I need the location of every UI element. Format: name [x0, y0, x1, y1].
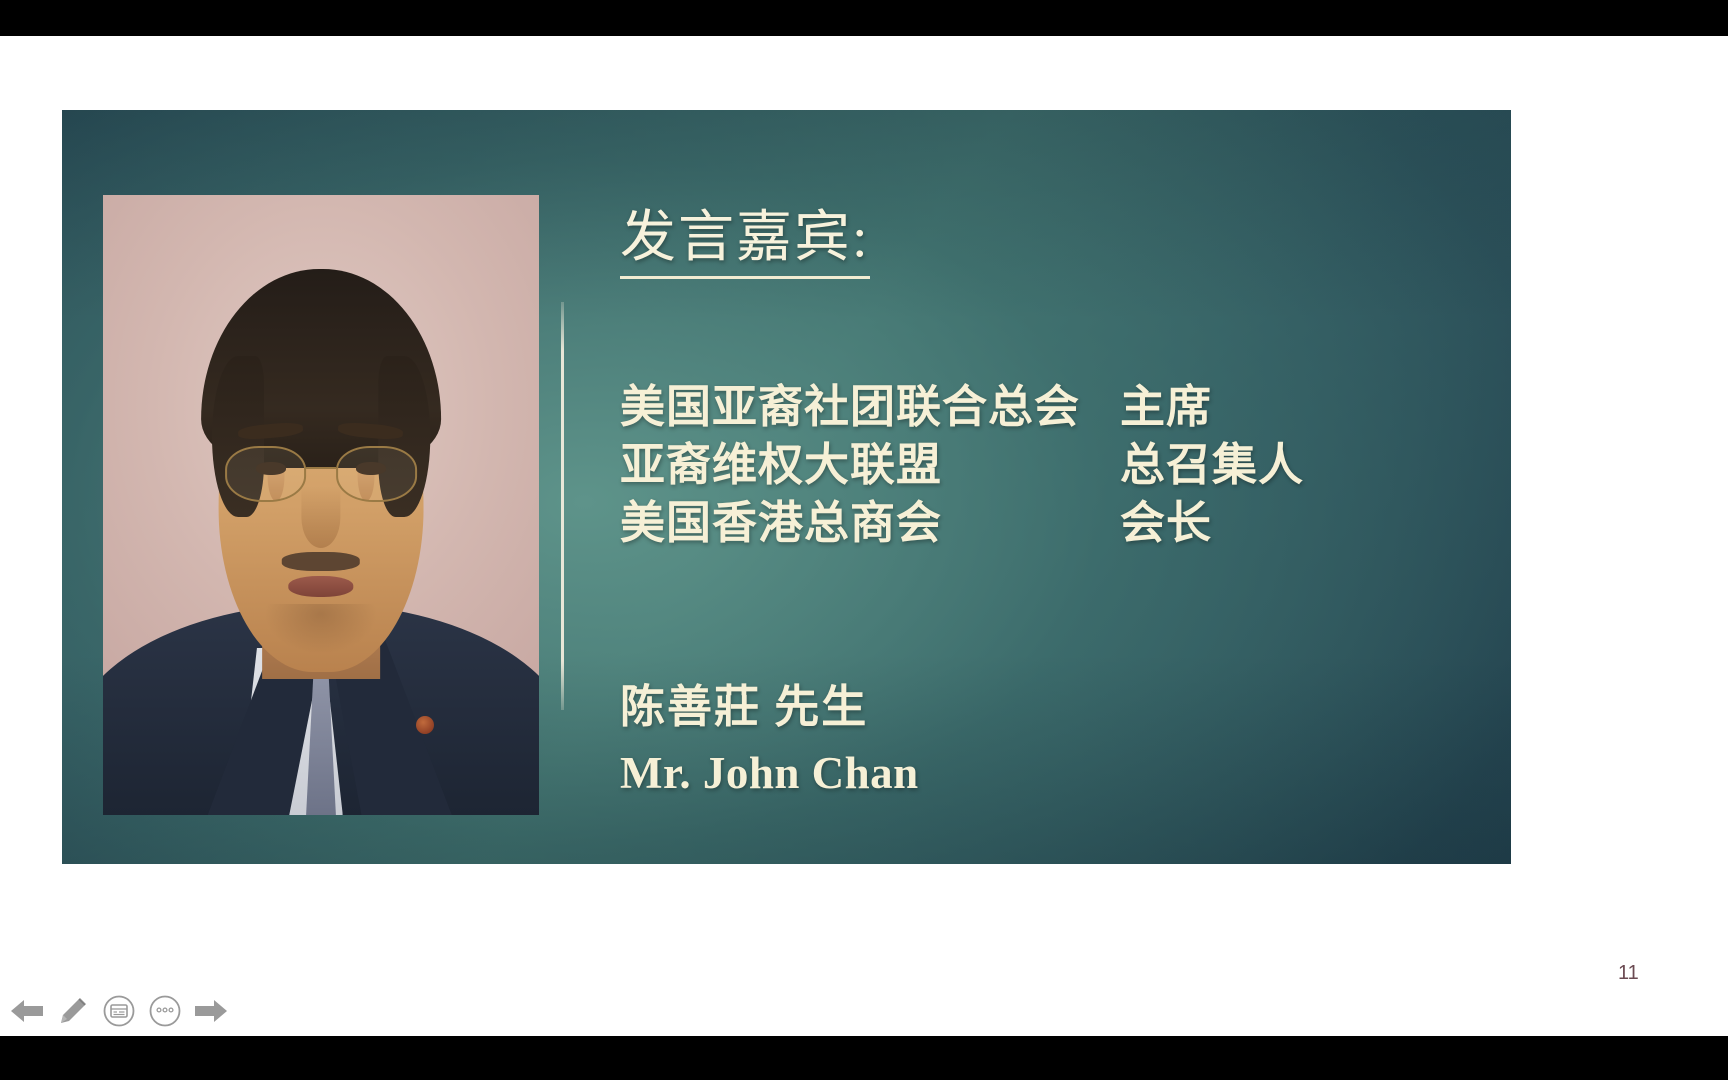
presentation-viewer: 发言嘉宾: 美国亚裔社团联合总会 主席 亚裔维权大联盟 总召集人 美国香港总商会… — [0, 0, 1728, 1080]
role-title: 会长 — [1120, 495, 1420, 553]
pen-tool[interactable] — [54, 992, 92, 1030]
next-slide-arrow[interactable] — [192, 992, 230, 1030]
portrait-mouth — [288, 576, 353, 597]
left-arrow-icon — [10, 998, 44, 1024]
slide-screen-icon — [103, 995, 135, 1027]
role-organization: 美国香港总商会 — [620, 495, 1120, 553]
portrait-lens-right — [336, 446, 417, 502]
more-options[interactable] — [146, 992, 184, 1030]
speaker-name-block: 陈善莊 先生 Mr. John Chan — [620, 670, 1460, 799]
viewer-toolbar — [8, 990, 230, 1032]
slide-headline: 发言嘉宾: — [620, 206, 870, 279]
role-organization: 美国亚裔社团联合总会 — [620, 379, 1120, 437]
slide-canvas[interactable]: 发言嘉宾: 美国亚裔社团联合总会 主席 亚裔维权大联盟 总召集人 美国香港总商会… — [62, 110, 1511, 864]
role-organization: 亚裔维权大联盟 — [620, 437, 1120, 495]
vertical-divider — [561, 302, 564, 710]
three-dots-circle-icon — [149, 995, 181, 1027]
role-row: 美国亚裔社团联合总会 主席 — [620, 379, 1460, 437]
role-row: 亚裔维权大联盟 总召集人 — [620, 437, 1460, 495]
right-arrow-icon — [194, 998, 228, 1024]
speaker-name-chinese: 陈善莊 先生 — [620, 670, 1460, 735]
portrait-mustache — [282, 552, 360, 572]
speaker-name-english: Mr. John Chan — [620, 747, 1460, 799]
letterbox-bottom — [0, 1036, 1728, 1080]
pencil-icon — [58, 996, 88, 1026]
page-number: 11 — [1618, 962, 1639, 985]
slide-overview[interactable] — [100, 992, 138, 1030]
portrait-glasses-bridge — [306, 467, 337, 469]
portrait-nose — [301, 486, 340, 548]
portrait-lens-left — [225, 446, 306, 502]
role-title: 主席 — [1120, 379, 1420, 437]
letterbox-top — [0, 0, 1728, 36]
role-row: 美国香港总商会 会长 — [620, 495, 1460, 553]
portrait-chin-shadow — [264, 604, 377, 654]
speaker-portrait-photo — [103, 195, 539, 815]
slide-text-content: 发言嘉宾: 美国亚裔社团联合总会 主席 亚裔维权大联盟 总召集人 美国香港总商会… — [620, 206, 1460, 799]
previous-slide-arrow[interactable] — [8, 992, 46, 1030]
role-title: 总召集人 — [1120, 437, 1420, 495]
roles-list: 美国亚裔社团联合总会 主席 亚裔维权大联盟 总召集人 美国香港总商会 会长 — [620, 379, 1460, 552]
